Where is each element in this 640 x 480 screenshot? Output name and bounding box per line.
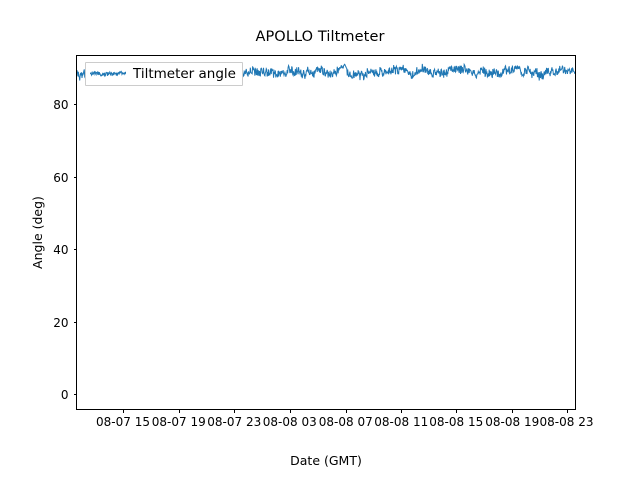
y-axis-tick-label: 60 [53,171,68,185]
x-axis-tick-label: 08-07 15 [96,415,150,429]
figure-canvas: APOLLO Tiltmeter 020406080 08-07 1508-07… [0,0,640,480]
tiltmeter-angle-line [77,56,575,409]
y-axis-tick-label: 40 [53,243,68,257]
x-axis-tick [456,409,457,413]
x-axis-tick [179,409,180,413]
x-axis-tick [401,409,402,413]
plot-axes: 020406080 08-07 1508-07 1908-07 2308-08 … [76,55,576,410]
x-axis-tick [567,409,568,413]
x-axis-label: Date (GMT) [76,453,576,468]
plot-area [77,56,575,409]
x-axis-tick [290,409,291,413]
y-axis-tick-label: 0 [61,388,69,402]
y-axis-tick: 40 [74,249,78,250]
x-axis-tick-label: 08-08 23 [540,415,594,429]
x-axis-tick [346,409,347,413]
legend-label: Tiltmeter angle [133,66,236,82]
legend-line-sample-icon [90,68,126,80]
x-axis-tick [234,409,235,413]
y-axis-tick: 80 [74,104,78,105]
x-axis-tick [512,409,513,413]
x-axis-tick-label: 08-08 07 [319,415,373,429]
x-axis-tick [123,409,124,413]
y-axis-label: Angle (deg) [30,55,45,410]
y-axis-tick: 0 [74,394,78,395]
x-axis-tick-label: 08-08 11 [374,415,428,429]
x-axis-tick-label: 08-08 15 [429,415,483,429]
legend-box[interactable]: Tiltmeter angle [85,62,243,86]
x-axis-tick-label: 08-08 19 [485,415,539,429]
x-axis-tick-label: 08-08 03 [263,415,317,429]
x-axis-tick-label: 08-07 19 [152,415,206,429]
y-axis-tick: 20 [74,322,78,323]
x-axis-tick-label: 08-07 23 [207,415,261,429]
y-axis-tick: 60 [74,177,78,178]
y-axis-tick-label: 20 [53,316,68,330]
chart-title: APOLLO Tiltmeter [0,29,640,45]
y-axis-tick-label: 80 [53,98,68,112]
